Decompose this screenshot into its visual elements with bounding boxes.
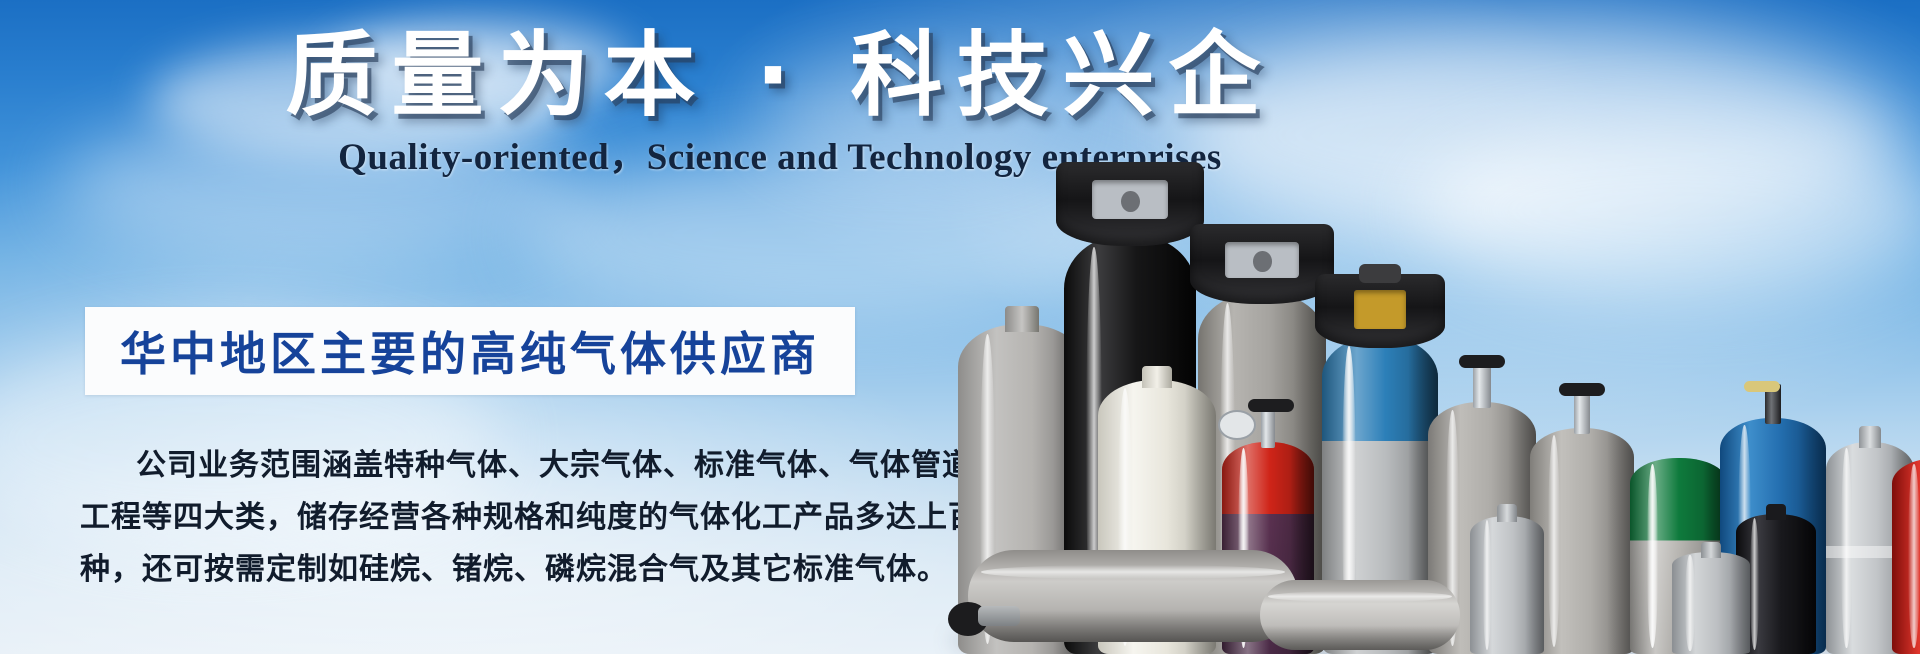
cylinder-cap-guard — [1056, 162, 1204, 246]
cylinder-cap-guard — [1190, 224, 1333, 304]
cylinder-aluminium-small — [1672, 542, 1750, 654]
cylinder-handwheel — [1559, 383, 1605, 396]
cylinder-handwheel — [1248, 399, 1294, 412]
cylinder-lying-grey — [968, 550, 1298, 642]
pressure-gauge — [1218, 410, 1256, 440]
cylinder-valve — [1574, 390, 1591, 434]
cylinder-red-right — [1892, 449, 1920, 654]
cylinder-cap-guard — [1315, 274, 1445, 348]
cylinder-lying-neck — [978, 606, 1020, 626]
cloud-decor — [60, 110, 580, 260]
callout-box: 华中地区主要的高纯气体供应商 — [85, 307, 855, 395]
cylinder-aluminium-small — [1470, 504, 1544, 654]
cylinder-lying-grey — [1260, 580, 1460, 650]
paragraph-line: 公司业务范围涵盖特种气体、大宗气体、标准气体、气体管道 — [80, 440, 870, 492]
cylinder-grey-valve — [1530, 379, 1634, 654]
cylinder-valve — [1261, 406, 1276, 448]
cylinder-valve — [1473, 362, 1490, 408]
gas-cylinder-photo — [930, 0, 1920, 654]
callout-text: 华中地区主要的高纯气体供应商 — [120, 318, 820, 384]
paragraph-line: 工程等四大类，储存经营各种规格和纯度的气体化工产品多达上百 — [80, 492, 870, 544]
paragraph-line: 种，还可按需定制如硅烷、锗烷、磷烷混合气及其它标准气体。 — [80, 544, 870, 596]
cylinder-handwheel — [1744, 381, 1780, 392]
banner-paragraph: 公司业务范围涵盖特种气体、大宗气体、标准气体、气体管道 工程等四大类，储存经营各… — [80, 440, 870, 596]
hero-banner: 质量为本 · 科技兴企 Quality-oriented，Science and… — [0, 0, 1920, 654]
cylinder-handwheel — [1459, 355, 1505, 368]
